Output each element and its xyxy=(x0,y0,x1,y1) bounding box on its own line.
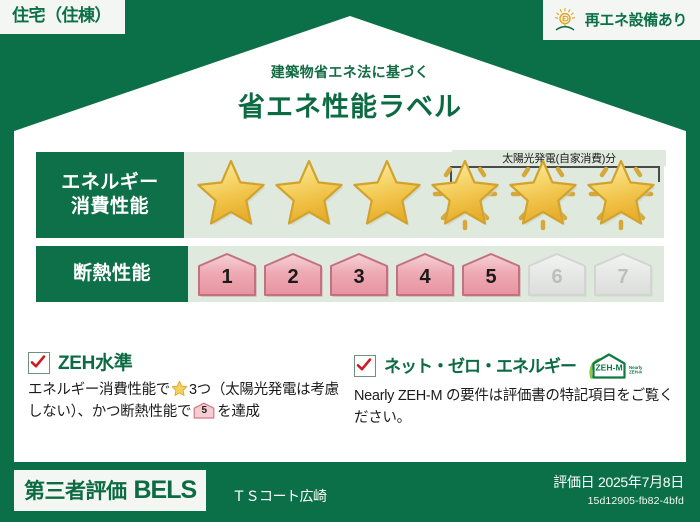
energy-star-area: 太陽光発電(自家消費)分 xyxy=(184,152,664,238)
zeh-standard-title: ZEH水準 xyxy=(58,354,133,373)
evaluation-id: 15d12905-fb82-4bfd xyxy=(553,495,684,507)
insulation-grade-6: 6 xyxy=(526,251,588,297)
star-rating xyxy=(184,152,664,238)
title-main: 省エネ性能ラベル xyxy=(0,85,700,124)
insulation-grade-3: 3 xyxy=(328,251,390,297)
insulation-grade-value: 2 xyxy=(262,267,324,287)
energy-performance-row: エネルギー 消費性能 太陽光発電(自家消費)分 xyxy=(36,152,664,238)
insulation-grade-value: 7 xyxy=(592,267,654,287)
zeh-desc-part3: を達成 xyxy=(217,404,260,420)
insulation-label: 断熱性能 xyxy=(73,262,151,286)
net-zero-checkbox xyxy=(354,355,376,377)
label-footer: 第三者評価 BELS ＴＳコート広崎 評価日 2025年7月8日 15d1290… xyxy=(0,462,700,522)
energy-performance-label: 住宅（住棟） 再エネ設備あり 建築物省エネ法に基づく 省エネ性能ラベル xyxy=(0,0,700,522)
star-4 xyxy=(426,156,504,234)
building-name: ＴＳコート広崎 xyxy=(232,486,327,506)
insulation-grade-value: 4 xyxy=(394,267,456,287)
performance-rows: エネルギー 消費性能 太陽光発電(自家消費)分 断熱性能 1234567 xyxy=(36,152,664,310)
star-2 xyxy=(270,156,348,234)
evaluation-info: 評価日 2025年7月8日 15d12905-fb82-4bfd xyxy=(553,472,684,507)
star-icon xyxy=(426,156,504,234)
renewable-equipment-label: 再エネ設備あり xyxy=(585,13,687,28)
check-icon xyxy=(356,357,372,373)
net-zero-energy-title: ネット・ゼロ・エネルギー xyxy=(384,358,576,375)
insulation-performance-row: 断熱性能 1234567 xyxy=(36,246,664,302)
svg-text:ZEH-M: ZEH-M xyxy=(595,363,622,373)
zeh-desc-part1: エネルギー消費性能で xyxy=(28,382,170,398)
insulation-grade-value: 6 xyxy=(526,267,588,287)
star-icon xyxy=(582,156,660,234)
solar-sun-icon xyxy=(552,7,578,33)
star-icon xyxy=(270,156,348,234)
bels-certification-chip: 第三者評価 BELS xyxy=(14,470,206,511)
insulation-grade-value: 3 xyxy=(328,267,390,287)
insulation-grade-7: 7 xyxy=(592,251,654,297)
inline-grade-value: 5 xyxy=(193,406,215,416)
zeh-criteria-block: ZEH水準 エネルギー消費性能で3つ（太陽光発電は考慮しない）、かつ断熱性能で5… xyxy=(28,352,674,430)
insulation-badge-area: 1234567 xyxy=(188,246,664,302)
label-title-block: 建築物省エネ法に基づく 省エネ性能ラベル xyxy=(0,62,700,124)
net-zero-energy-header: ネット・ゼロ・エネルギー ZEH-M Nearly ZEH-M xyxy=(354,352,674,380)
insulation-grade-4: 4 xyxy=(394,251,456,297)
check-icon xyxy=(30,354,46,370)
insulation-grade-value: 5 xyxy=(460,267,522,287)
inline-star-icon xyxy=(171,380,188,397)
star-6 xyxy=(582,156,660,234)
evaluation-date: 評価日 2025年7月8日 xyxy=(553,472,684,492)
net-zero-energy-column: ネット・ゼロ・エネルギー ZEH-M Nearly ZEH-M Nearly Z… xyxy=(354,352,674,430)
bels-third-party-label: 第三者評価 xyxy=(24,475,127,505)
svg-text:ZEH-M: ZEH-M xyxy=(629,370,642,375)
star-icon xyxy=(504,156,582,234)
energy-label-line2: 消費性能 xyxy=(71,195,149,219)
net-zero-energy-description: Nearly ZEH-M の要件は評価書の特記項目をご覧ください。 xyxy=(354,386,674,430)
star-icon xyxy=(192,156,270,234)
title-subtitle: 建築物省エネ法に基づく xyxy=(0,62,700,82)
bels-mark: BELS xyxy=(134,476,197,505)
zeh-standard-column: ZEH水準 エネルギー消費性能で3つ（太陽光発電は考慮しない）、かつ断熱性能で5… xyxy=(28,352,344,430)
zeh-standard-description: エネルギー消費性能で3つ（太陽光発電は考慮しない）、かつ断熱性能で5を達成 xyxy=(28,380,344,424)
insulation-grade-list: 1234567 xyxy=(188,248,658,300)
zeh-standard-checkbox xyxy=(28,352,50,374)
star-icon xyxy=(348,156,426,234)
star-5 xyxy=(504,156,582,234)
insulation-performance-label-box: 断熱性能 xyxy=(36,246,188,302)
dwelling-type-label: 住宅（住棟） xyxy=(12,6,111,25)
renewable-equipment-chip: 再エネ設備あり xyxy=(543,0,700,40)
star-3 xyxy=(348,156,426,234)
insulation-grade-1: 1 xyxy=(196,251,258,297)
star-1 xyxy=(192,156,270,234)
zeh-standard-header: ZEH水準 xyxy=(28,352,344,374)
dwelling-type-chip: 住宅（住棟） xyxy=(0,0,125,34)
energy-label-line1: エネルギー xyxy=(61,171,159,195)
inline-grade-badge: 5 xyxy=(193,402,215,419)
insulation-grade-5: 5 xyxy=(460,251,522,297)
zeh-m-logo-icon: ZEH-M Nearly ZEH-M xyxy=(588,352,642,380)
insulation-grade-value: 1 xyxy=(196,267,258,287)
energy-performance-label-box: エネルギー 消費性能 xyxy=(36,152,184,238)
insulation-grade-2: 2 xyxy=(262,251,324,297)
